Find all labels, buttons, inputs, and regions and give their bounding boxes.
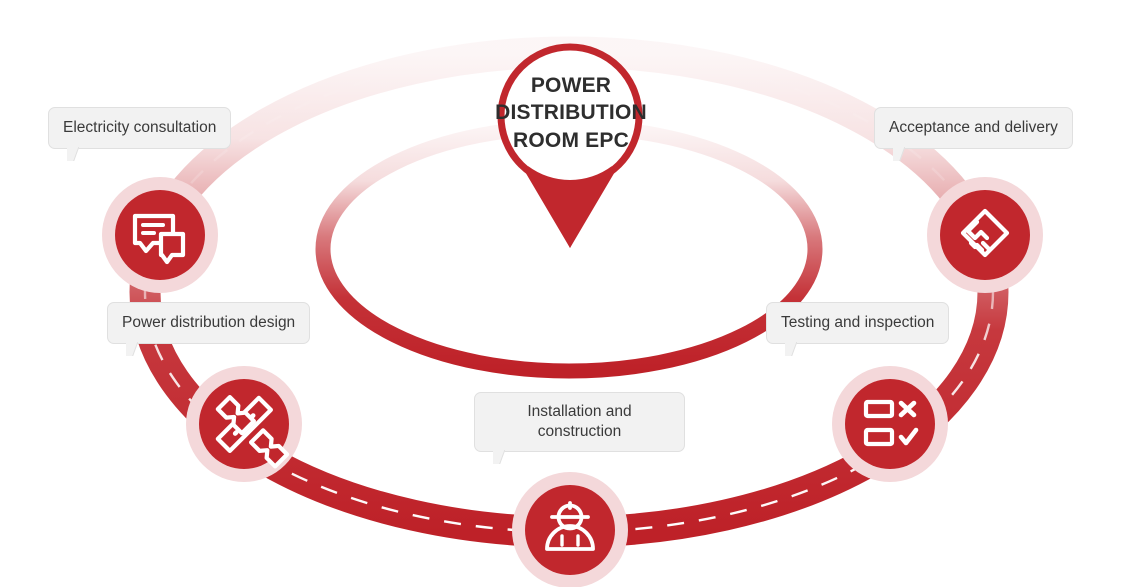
step-label-testing-and-inspection[interactable]: Testing and inspection xyxy=(766,302,949,344)
step-label-text: Electricity consultation xyxy=(63,119,216,136)
step-label-text: Installation and construction xyxy=(527,403,631,440)
label-tail xyxy=(785,342,797,356)
step-label-power-distribution-design[interactable]: Power distribution design xyxy=(107,302,310,344)
process-diagram: POWER DISTRIBUTION ROOM EPC Electricity … xyxy=(0,0,1139,587)
step-label-text: Acceptance and delivery xyxy=(889,119,1058,136)
label-tail xyxy=(493,450,505,464)
center-pin-title: POWER DISTRIBUTION ROOM EPC xyxy=(481,72,661,154)
label-tail xyxy=(126,342,138,356)
step-label-acceptance-and-delivery[interactable]: Acceptance and delivery xyxy=(874,107,1073,149)
step-label-electricity-consultation[interactable]: Electricity consultation xyxy=(48,107,231,149)
step-label-text: Power distribution design xyxy=(122,314,295,331)
pin-title-line-2: DISTRIBUTION xyxy=(481,99,661,126)
pin-title-line-1: POWER xyxy=(481,72,661,99)
pin-title-line-3: ROOM EPC xyxy=(481,127,661,154)
step-label-text: Testing and inspection xyxy=(781,314,934,331)
label-tail xyxy=(67,147,79,161)
label-tail xyxy=(893,147,905,161)
step-label-installation-and-construction[interactable]: Installation and construction xyxy=(474,392,685,452)
